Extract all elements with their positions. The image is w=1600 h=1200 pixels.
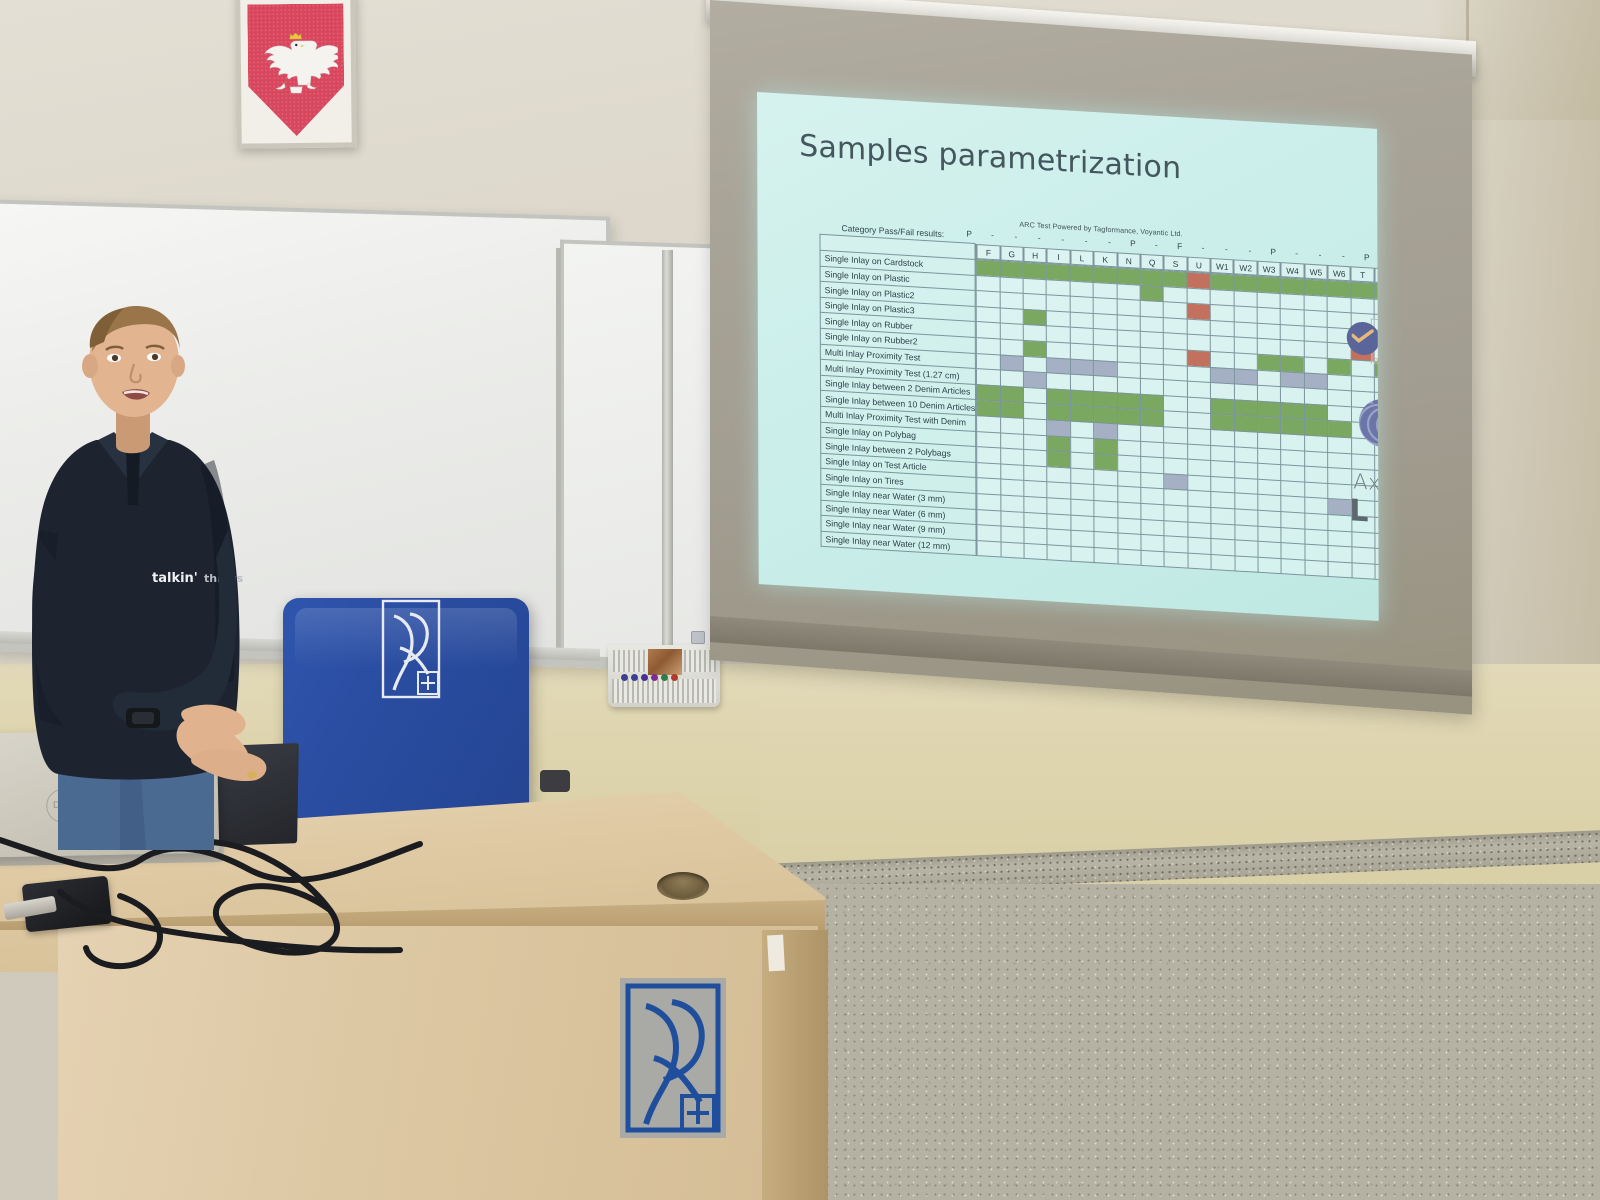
matrix-cell-F-15 xyxy=(977,478,1000,495)
matrix-cell-N-3 xyxy=(1117,299,1140,316)
pr-logo-desk xyxy=(620,978,726,1138)
matrix-cell-K-6 xyxy=(1094,345,1117,362)
matrix-cell-G-12 xyxy=(1000,433,1023,450)
matrix-cell-K-15 xyxy=(1094,485,1117,502)
white-eagle-icon xyxy=(254,28,339,101)
pass-fail-marker: P xyxy=(1121,238,1144,249)
matrix-cell-Q-10 xyxy=(1141,410,1164,427)
matrix-cell-W4-10 xyxy=(1281,418,1304,435)
matrix-cell-W1-17 xyxy=(1211,523,1234,540)
gs1-arcs-icon xyxy=(1359,400,1379,449)
matrix-cell-I-13 xyxy=(1047,451,1070,468)
matrix-cell-S-17 xyxy=(1164,520,1187,537)
matrix-cell-H-1 xyxy=(1023,262,1046,279)
matrix-cell-L-3 xyxy=(1070,296,1093,313)
matrix-cell-S-12 xyxy=(1164,442,1187,459)
matrix-cell-N-14 xyxy=(1117,471,1140,488)
matrix-cell-G-3 xyxy=(1000,292,1023,309)
matrix-cell-H-5 xyxy=(1023,325,1046,342)
matrix-cell-G-13 xyxy=(1000,448,1023,465)
matrix-cell-G-10 xyxy=(1000,401,1023,418)
matrix-cell-W6-19 xyxy=(1328,561,1351,578)
matrix-cell-G-7 xyxy=(1000,355,1023,372)
matrix-cell-N-9 xyxy=(1117,393,1140,410)
samples-parametrization-table: FGHILKNQSUW1W2W3W4W5W6TYZ Single Inlay o… xyxy=(819,234,1378,583)
matrix-cell-G-15 xyxy=(1000,479,1023,496)
matrix-cell-G-8 xyxy=(1000,370,1023,387)
matrix-cell-W2-14 xyxy=(1234,478,1257,495)
projected-slide: Samples parametrization ARC Test Powered… xyxy=(757,92,1379,621)
matrix-cell-Q-18 xyxy=(1141,535,1164,552)
matrix-cell-U-3 xyxy=(1187,303,1210,320)
matrix-cell-G-4 xyxy=(1000,308,1023,325)
matrix-cell-L-16 xyxy=(1071,499,1094,516)
matrix-cell-Q-2 xyxy=(1140,285,1163,302)
table-body: Single Inlay on CardstockSingle Inlay on… xyxy=(820,250,1379,582)
matrix-cell-L-17 xyxy=(1071,515,1094,532)
matrix-cell-W5-8 xyxy=(1304,388,1327,405)
matrix-cell-W2-4 xyxy=(1234,322,1257,339)
matrix-cell-W4-11 xyxy=(1281,434,1304,451)
matrix-cell-F-11 xyxy=(977,416,1000,433)
matrix-cell-F-3 xyxy=(976,291,999,308)
marker-tray[interactable] xyxy=(608,645,720,707)
matrix-cell-W2-16 xyxy=(1235,509,1258,526)
matrix-cell-G-2 xyxy=(1000,277,1023,294)
matrix-cell-K-14 xyxy=(1094,469,1117,486)
matrix-cell-W5-11 xyxy=(1304,435,1327,452)
matrix-cell-W3-17 xyxy=(1258,526,1281,543)
matrix-cell-T-2 xyxy=(1351,297,1374,314)
floor-texture xyxy=(760,884,1600,1200)
matrix-cell-F-5 xyxy=(976,322,999,339)
wall-socket[interactable] xyxy=(691,631,705,644)
matrix-cell-S-7 xyxy=(1164,364,1187,381)
matrix-cell-S-2 xyxy=(1164,286,1187,303)
matrix-cell-S-13 xyxy=(1164,458,1187,475)
tray-vent-bottom xyxy=(612,679,716,703)
matrix-cell-L-7 xyxy=(1070,359,1093,376)
matrix-cell-Q-9 xyxy=(1141,394,1164,411)
coat-of-arms-shield xyxy=(247,4,344,137)
chair-leg xyxy=(540,770,570,792)
matrix-cell-W4-8 xyxy=(1281,387,1304,404)
matrix-cell-T-1 xyxy=(1351,282,1374,299)
matrix-cell-G-18 xyxy=(1001,526,1024,543)
matrix-cell-U-15 xyxy=(1188,490,1211,507)
matrix-cell-K-4 xyxy=(1093,313,1116,330)
matrix-cell-W1-14 xyxy=(1211,476,1234,493)
matrix-cell-I-3 xyxy=(1047,295,1070,312)
matrix-cell-I-15 xyxy=(1047,482,1070,499)
matrix-cell-W2-3 xyxy=(1234,306,1257,323)
column-header-L: L xyxy=(1070,249,1093,266)
pass-fail-marker: P xyxy=(1355,252,1378,263)
matrix-cell-S-3 xyxy=(1164,302,1187,319)
pass-fail-marker: - xyxy=(1145,239,1168,250)
matrix-cell-U-16 xyxy=(1188,506,1211,523)
matrix-cell-Q-5 xyxy=(1140,332,1163,349)
matrix-cell-T-18 xyxy=(1352,547,1375,564)
matrix-cell-F-13 xyxy=(977,447,1000,464)
matrix-cell-F-19 xyxy=(977,540,1000,557)
matrix-cell-U-8 xyxy=(1187,381,1210,398)
column-header-Q: Q xyxy=(1140,253,1163,270)
column-header-H: H xyxy=(1023,246,1046,263)
matrix-cell-W2-9 xyxy=(1234,400,1257,417)
matrix-cell-W3-12 xyxy=(1258,448,1281,465)
matrix-cell-L-9 xyxy=(1070,390,1093,407)
pass-fail-marker: - xyxy=(1074,235,1097,246)
matrix-cell-L-19 xyxy=(1071,546,1094,563)
matrix-cell-G-5 xyxy=(1000,323,1023,340)
matrix-cell-K-13 xyxy=(1094,454,1117,471)
matrix-cell-N-8 xyxy=(1117,377,1140,394)
pass-fail-marker: - xyxy=(1004,231,1027,242)
matrix-cell-U-13 xyxy=(1188,459,1211,476)
matrix-cell-W3-16 xyxy=(1258,510,1281,527)
matrix-cell-W5-4 xyxy=(1304,326,1327,343)
matrix-cell-Q-17 xyxy=(1141,519,1164,536)
matrix-cell-Q-1 xyxy=(1140,269,1163,286)
polish-coat-of-arms-frame xyxy=(235,0,357,149)
matrix-cell-W1-18 xyxy=(1211,539,1234,556)
matrix-cell-W1-19 xyxy=(1211,554,1234,571)
matrix-cell-H-11 xyxy=(1024,418,1047,435)
matrix-cell-W1-6 xyxy=(1211,352,1234,369)
matrix-cell-H-16 xyxy=(1024,496,1047,513)
matrix-cell-L-4 xyxy=(1070,312,1093,329)
matrix-cell-W4-12 xyxy=(1281,449,1304,466)
matrix-cell-W1-11 xyxy=(1211,430,1234,447)
matrix-cell-F-12 xyxy=(977,431,1000,448)
matrix-cell-K-5 xyxy=(1093,329,1116,346)
matrix-cell-W2-15 xyxy=(1234,493,1257,510)
pass-fail-marker: - xyxy=(1028,232,1051,243)
matrix-cell-U-10 xyxy=(1187,413,1210,430)
matrix-cell-H-9 xyxy=(1023,387,1046,404)
matrix-cell-U-19 xyxy=(1188,553,1211,570)
matrix-cell-W3-3 xyxy=(1257,308,1280,325)
matrix-cell-W6-18 xyxy=(1328,546,1351,563)
pass-fail-marker: - xyxy=(1215,243,1238,254)
matrix-cell-K-17 xyxy=(1094,516,1117,533)
matrix-cell-S-9 xyxy=(1164,396,1187,413)
matrix-cell-W3-18 xyxy=(1258,541,1281,558)
matrix-cell-S-18 xyxy=(1164,536,1187,553)
matrix-cell-F-10 xyxy=(977,400,1000,417)
column-header-W3: W3 xyxy=(1257,260,1280,277)
column-header-G: G xyxy=(1000,245,1023,262)
matrix-cell-Q-16 xyxy=(1141,503,1164,520)
matrix-cell-W1-10 xyxy=(1211,414,1234,431)
matrix-cell-H-10 xyxy=(1024,403,1047,420)
slide-title: Samples parametrization xyxy=(799,129,1181,187)
matrix-cell-K-2 xyxy=(1093,282,1116,299)
matrix-cell-I-10 xyxy=(1047,404,1070,421)
matrix-cell-Q-11 xyxy=(1141,425,1164,442)
matrix-cell-U-2 xyxy=(1187,288,1210,305)
matrix-cell-W2-17 xyxy=(1235,524,1258,541)
matrix-cell-W1-5 xyxy=(1211,336,1234,353)
matrix-cell-Q-19 xyxy=(1141,550,1164,567)
pass-fail-marker: P xyxy=(957,228,980,239)
matrix-cell-L-11 xyxy=(1070,421,1093,438)
matrix-cell-F-2 xyxy=(976,275,999,292)
matrix-cell-H-15 xyxy=(1024,481,1047,498)
matrix-cell-Q-8 xyxy=(1140,379,1163,396)
matrix-cell-I-7 xyxy=(1047,357,1070,374)
matrix-cell-L-1 xyxy=(1070,265,1093,282)
matrix-cell-W5-16 xyxy=(1305,513,1328,530)
column-header-W6: W6 xyxy=(1328,264,1351,281)
matrix-cell-W5-1 xyxy=(1304,279,1327,296)
matrix-cell-N-4 xyxy=(1117,315,1140,332)
matrix-cell-I-2 xyxy=(1046,279,1069,296)
matrix-cell-Y-17 xyxy=(1375,533,1379,550)
matrix-cell-Q-12 xyxy=(1141,441,1164,458)
matrix-cell-N-16 xyxy=(1117,502,1140,519)
matrix-cell-F-1 xyxy=(976,260,999,277)
matrix-cell-W5-17 xyxy=(1305,529,1328,546)
matrix-cell-I-9 xyxy=(1047,389,1070,406)
matrix-cell-S-10 xyxy=(1164,411,1187,428)
matrix-cell-W2-8 xyxy=(1234,384,1257,401)
matrix-cell-W4-15 xyxy=(1281,496,1304,513)
column-header-F: F xyxy=(977,244,1000,261)
matrix-cell-S-8 xyxy=(1164,380,1187,397)
column-header-W4: W4 xyxy=(1281,262,1304,279)
matrix-cell-S-11 xyxy=(1164,427,1187,444)
axia-lab-logo: Axia LAB xyxy=(1343,469,1379,537)
matrix-cell-Q-15 xyxy=(1141,488,1164,505)
matrix-cell-K-1 xyxy=(1093,267,1116,284)
matrix-cell-W3-4 xyxy=(1257,323,1280,340)
matrix-cell-S-1 xyxy=(1163,271,1186,288)
matrix-cell-W4-13 xyxy=(1281,465,1304,482)
matrix-cell-W1-16 xyxy=(1211,507,1234,524)
matrix-cell-W2-6 xyxy=(1234,353,1257,370)
desk-cable-hole xyxy=(657,872,709,900)
matrix-cell-G-11 xyxy=(1000,417,1023,434)
matrix-cell-W5-13 xyxy=(1305,466,1328,483)
projector-screen-pole xyxy=(662,250,673,650)
gs1-logo: GS1 xyxy=(1343,395,1379,452)
matrix-cell-U-18 xyxy=(1188,537,1211,554)
pass-fail-marker: - xyxy=(1285,247,1308,258)
matrix-cell-I-19 xyxy=(1047,545,1070,562)
matrix-cell-W5-19 xyxy=(1305,560,1328,577)
matrix-cell-K-12 xyxy=(1094,438,1117,455)
matrix-cell-U-7 xyxy=(1187,366,1210,383)
matrix-cell-H-12 xyxy=(1024,434,1047,451)
matrix-cell-S-4 xyxy=(1164,318,1187,335)
matrix-cell-L-14 xyxy=(1071,468,1094,485)
matrix-cell-N-19 xyxy=(1118,549,1141,566)
matrix-cell-I-5 xyxy=(1047,326,1070,343)
matrix-cell-H-8 xyxy=(1023,372,1046,389)
matrix-cell-L-8 xyxy=(1070,374,1093,391)
matrix-cell-U-17 xyxy=(1188,522,1211,539)
matrix-cell-N-15 xyxy=(1117,486,1140,503)
matrix-cell-N-1 xyxy=(1117,268,1140,285)
matrix-cell-N-18 xyxy=(1118,533,1141,550)
matrix-cell-F-9 xyxy=(977,384,1000,401)
column-header-I: I xyxy=(1047,248,1070,265)
matrix-cell-W1-9 xyxy=(1211,398,1234,415)
matrix-cell-W4-14 xyxy=(1281,480,1304,497)
matrix-cell-I-14 xyxy=(1047,467,1070,484)
matrix-cell-W2-7 xyxy=(1234,369,1257,386)
matrix-cell-W4-18 xyxy=(1281,543,1304,560)
shirt-logo-text: talkin' xyxy=(152,571,198,586)
matrix-cell-W6-17 xyxy=(1328,530,1351,547)
matrix-cell-Q-3 xyxy=(1140,301,1163,318)
matrix-cell-F-4 xyxy=(976,306,999,323)
matrix-cell-W5-15 xyxy=(1305,497,1328,514)
matrix-cell-L-6 xyxy=(1070,343,1093,360)
matrix-cell-W4-16 xyxy=(1281,512,1304,529)
matrix-cell-F-14 xyxy=(977,462,1000,479)
matrix-cell-W6-1 xyxy=(1327,280,1350,297)
pass-fail-marker: - xyxy=(1308,249,1331,260)
matrix-cell-W3-6 xyxy=(1257,354,1280,371)
matrix-cell-G-6 xyxy=(1000,339,1023,356)
matrix-cell-L-15 xyxy=(1071,484,1094,501)
matrix-cell-W5-12 xyxy=(1305,451,1328,468)
pass-fail-marker: F xyxy=(1168,240,1191,251)
matrix-cell-G-16 xyxy=(1000,495,1023,512)
matrix-cell-L-12 xyxy=(1070,437,1093,454)
matrix-cell-W3-8 xyxy=(1257,385,1280,402)
pass-fail-marker: P xyxy=(1262,246,1285,257)
matrix-cell-H-14 xyxy=(1024,465,1047,482)
matrix-cell-W1-12 xyxy=(1211,445,1234,462)
matrix-cell-K-16 xyxy=(1094,501,1117,518)
matrix-cell-W5-6 xyxy=(1304,357,1327,374)
tray-vent-left xyxy=(613,650,647,672)
matrix-cell-U-11 xyxy=(1187,428,1210,445)
matrix-cell-N-7 xyxy=(1117,362,1140,379)
matrix-cell-W4-5 xyxy=(1281,340,1304,357)
matrix-cell-W2-18 xyxy=(1235,540,1258,557)
matrix-cell-Q-13 xyxy=(1141,457,1164,474)
matrix-cell-G-19 xyxy=(1001,542,1024,559)
crown-icon xyxy=(290,33,302,39)
gs1-circle-shape: GS1 xyxy=(1359,398,1379,449)
matrix-cell-L-2 xyxy=(1070,281,1093,298)
pass-fail-marker: - xyxy=(981,229,1004,240)
arc-quality-logo: ARC QUALITY | 2023 xyxy=(1343,313,1379,374)
matrix-cell-K-8 xyxy=(1094,376,1117,393)
column-header-W1: W1 xyxy=(1211,257,1234,274)
matrix-cell-W5-9 xyxy=(1304,404,1327,421)
matrix-cell-N-5 xyxy=(1117,330,1140,347)
matrix-cell-W5-2 xyxy=(1304,295,1327,312)
matrix-cell-S-5 xyxy=(1164,333,1187,350)
matrix-cell-W3-2 xyxy=(1257,292,1280,309)
matrix-cell-W4-17 xyxy=(1281,527,1304,544)
matrix-cell-G-9 xyxy=(1000,386,1023,403)
matrix-cell-G-17 xyxy=(1001,511,1024,528)
pass-fail-marker: - xyxy=(1238,245,1261,256)
matrix-cell-Q-4 xyxy=(1140,316,1163,333)
matrix-cell-H-4 xyxy=(1023,309,1046,326)
matrix-cell-I-18 xyxy=(1047,529,1070,546)
matrix-cell-W2-11 xyxy=(1234,431,1257,448)
matrix-cell-S-16 xyxy=(1164,505,1187,522)
matrix-cell-T-17 xyxy=(1352,531,1375,548)
matrix-cell-Q-14 xyxy=(1141,472,1164,489)
matrix-cell-S-19 xyxy=(1164,551,1187,568)
matrix-cell-K-3 xyxy=(1093,298,1116,315)
matrix-cell-H-17 xyxy=(1024,512,1047,529)
matrix-cell-H-13 xyxy=(1024,450,1047,467)
matrix-cell-I-4 xyxy=(1047,311,1070,328)
column-header-W5: W5 xyxy=(1304,263,1327,280)
matrix-cell-W4-4 xyxy=(1281,324,1304,341)
matrix-cell-F-7 xyxy=(977,353,1000,370)
matrix-cell-W6-2 xyxy=(1327,296,1350,313)
desk-sticker xyxy=(767,935,785,972)
matrix-cell-I-16 xyxy=(1047,498,1070,515)
matrix-cell-W4-2 xyxy=(1281,293,1304,310)
matrix-cell-H-18 xyxy=(1024,528,1047,545)
matrix-cell-H-3 xyxy=(1023,294,1046,311)
matrix-cell-W3-11 xyxy=(1258,432,1281,449)
matrix-cell-K-19 xyxy=(1094,547,1117,564)
matrix-cell-L-10 xyxy=(1070,406,1093,423)
pass-fail-marker: - xyxy=(1191,242,1214,253)
matrix-cell-W3-15 xyxy=(1258,495,1281,512)
matrix-cell-W5-10 xyxy=(1304,419,1327,436)
floor xyxy=(760,884,1600,1200)
checkmark-icon xyxy=(1352,328,1374,343)
matrix-cell-S-6 xyxy=(1164,349,1187,366)
matrix-cell-W1-7 xyxy=(1211,367,1234,384)
matrix-cell-F-17 xyxy=(977,509,1000,526)
matrix-cell-W2-19 xyxy=(1235,556,1258,573)
matrix-cell-N-6 xyxy=(1117,346,1140,363)
pr-logo-chair xyxy=(380,598,442,700)
matrix-cell-H-6 xyxy=(1023,340,1046,357)
matrix-cell-K-11 xyxy=(1094,423,1117,440)
matrix-cell-N-17 xyxy=(1118,518,1141,535)
matrix-cell-W4-6 xyxy=(1281,356,1304,373)
matrix-cell-W1-13 xyxy=(1211,461,1234,478)
matrix-cell-W3-14 xyxy=(1258,479,1281,496)
slide-logos: ARC QUALITY | 2023 GS1 xyxy=(1343,313,1379,538)
projected-slide-wrapper: Samples parametrization ARC Test Powered… xyxy=(757,92,1379,621)
matrix-cell-I-17 xyxy=(1047,513,1070,530)
matrix-cell-W2-5 xyxy=(1234,337,1257,354)
matrix-cell-I-11 xyxy=(1047,420,1070,437)
matrix-cell-W2-10 xyxy=(1234,415,1257,432)
matrix-cell-W5-5 xyxy=(1304,341,1327,358)
matrix-cell-K-10 xyxy=(1094,407,1117,424)
matrix-cell-W4-9 xyxy=(1281,402,1304,419)
matrix-cell-W2-2 xyxy=(1234,291,1257,308)
matrix-cell-Q-7 xyxy=(1140,363,1163,380)
matrix-cell-W3-9 xyxy=(1258,401,1281,418)
matrix-cell-W5-14 xyxy=(1305,482,1328,499)
matrix-cell-L-13 xyxy=(1071,452,1094,469)
lecture-room-scene: Samples parametrization ARC Test Powered… xyxy=(0,0,1600,1200)
matrix-cell-L-18 xyxy=(1071,530,1094,547)
matrix-cell-W5-7 xyxy=(1304,373,1327,390)
matrix-cell-W4-1 xyxy=(1281,278,1304,295)
matrix-cell-W3-19 xyxy=(1258,557,1281,574)
